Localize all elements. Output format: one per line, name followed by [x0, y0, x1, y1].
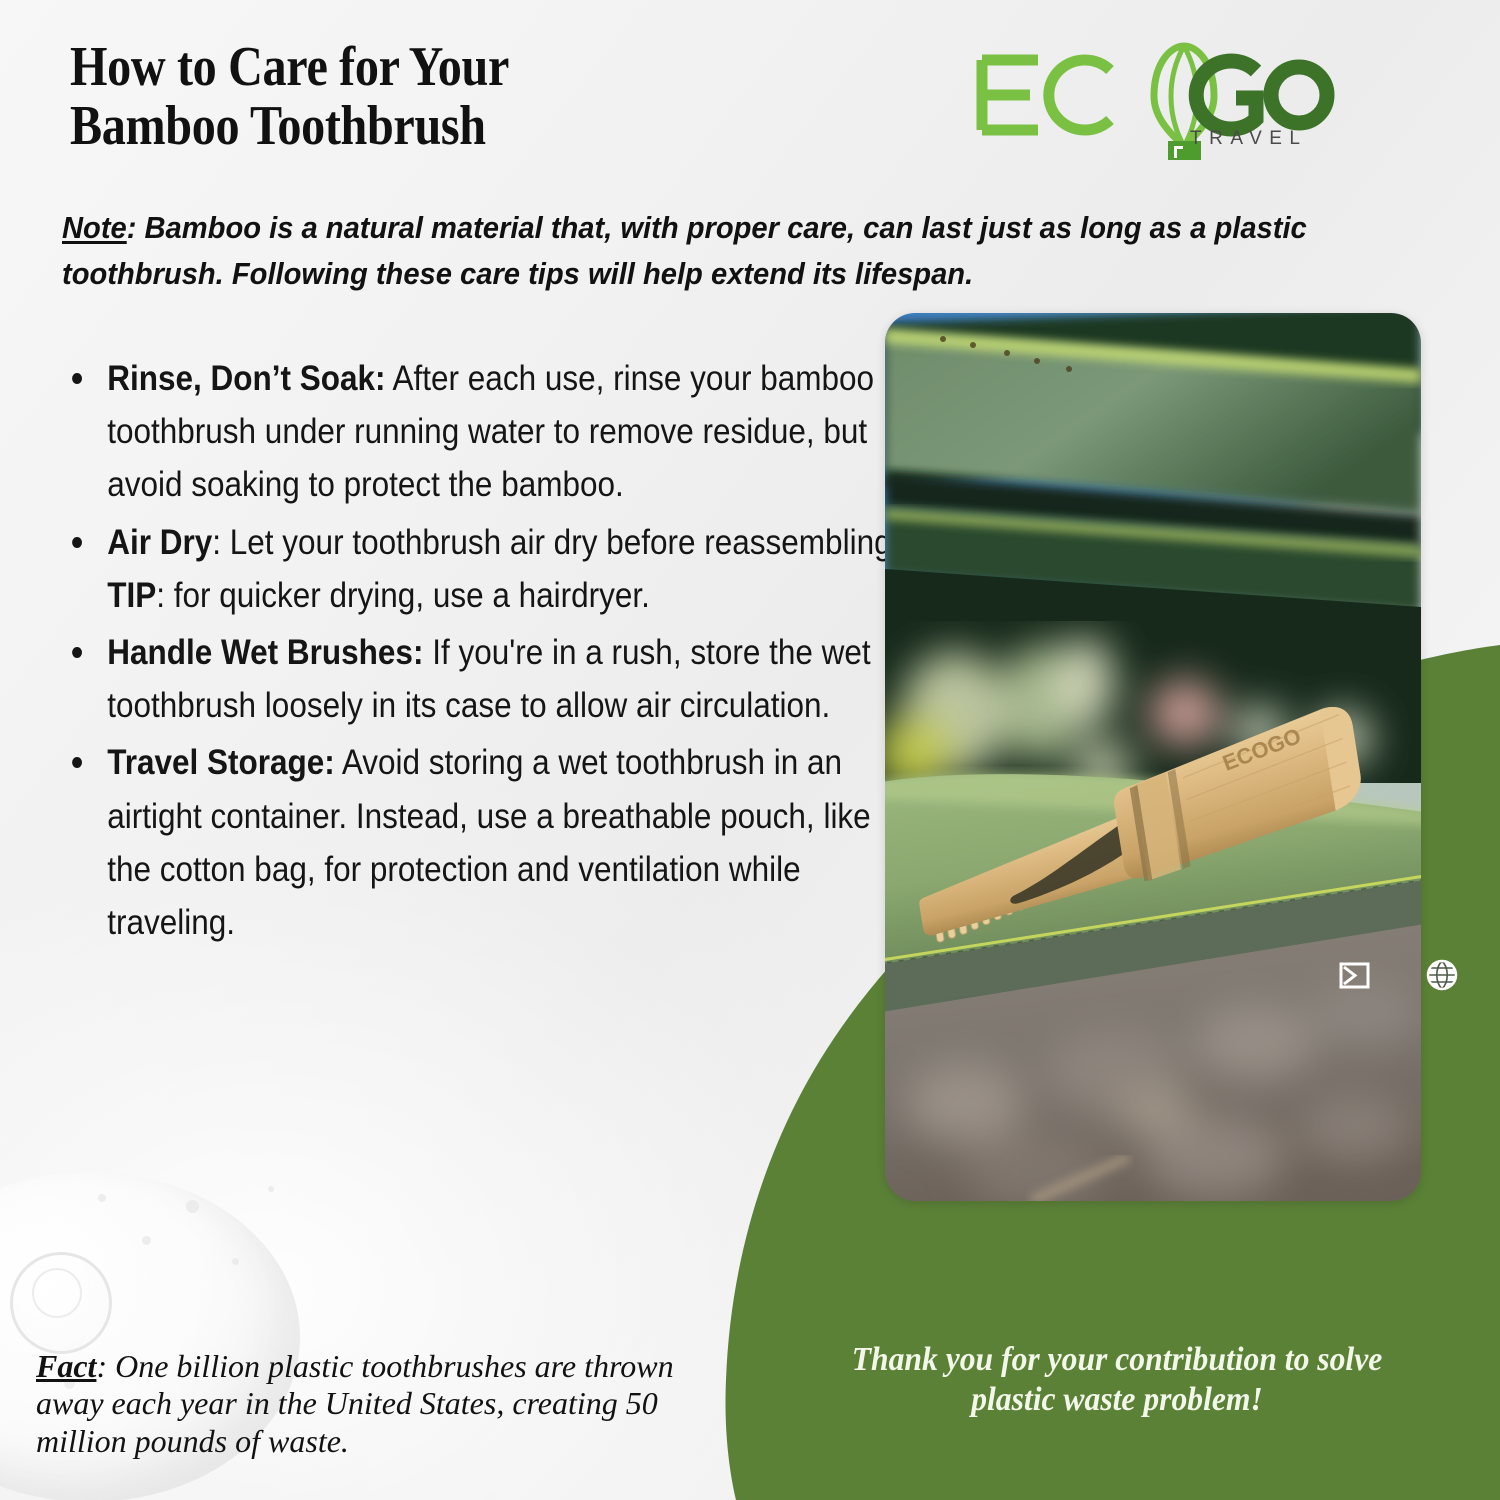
bullet-dot [72, 373, 82, 384]
care-tips-list: Rinse, Don’t Soak: After each use, rinse… [64, 352, 874, 953]
photo-overlay-icons [1338, 958, 1459, 997]
list-item: Handle Wet Brushes: If you're in a rush,… [64, 626, 917, 732]
tip-heading: Handle Wet Brushes: [107, 633, 423, 672]
infographic-canvas: How to Care for Your Bamboo Toothbrush [0, 0, 1500, 1500]
logo-letter-e [982, 60, 1038, 130]
fact-label: Fact [36, 1348, 96, 1384]
water-bubble-ring [10, 1252, 112, 1354]
note-label: Note [62, 211, 127, 245]
tip-body: : Let your toothbrush air dry before rea… [212, 523, 900, 562]
globe-icon[interactable] [1425, 958, 1459, 997]
thank-you-message: Thank you for your contribution to solve… [796, 1340, 1438, 1420]
water-droplet [268, 1186, 274, 1192]
list-item: Rinse, Don’t Soak: After each use, rinse… [64, 352, 917, 512]
water-droplet [186, 1200, 199, 1213]
logo-letter-g [1196, 61, 1256, 129]
note-text: : Bamboo is a natural material that, wit… [62, 211, 1307, 291]
water-bubble-ring-inner [32, 1268, 82, 1318]
tip-body-continued: : for quicker drying, use a hairdryer. [156, 576, 650, 615]
tip-heading: Air Dry [107, 523, 212, 562]
ecogo-travel-logo: TRAVEL [968, 38, 1340, 168]
list-item: Travel Storage: Avoid storing a wet toot… [64, 736, 917, 949]
logo-tagline: TRAVEL [1190, 128, 1308, 149]
fact-text: Fact: One billion plastic toothbrushes a… [36, 1348, 716, 1460]
note-paragraph: Note: Bamboo is a natural material that,… [62, 206, 1368, 298]
logo-letter-c [1049, 60, 1110, 130]
water-droplet [142, 1236, 151, 1245]
water-droplet [98, 1194, 106, 1202]
bullet-dot [72, 757, 82, 768]
page-title: How to Care for Your Bamboo Toothbrush [70, 38, 672, 157]
bullet-dot [72, 647, 82, 658]
tip-heading: Rinse, Don’t Soak: [107, 359, 385, 398]
bullet-dot [72, 537, 82, 548]
product-photo: ECOGO [885, 313, 1421, 1201]
tip-inline-emphasis: TIP [107, 576, 156, 615]
logo-letter-o [1271, 67, 1327, 123]
tip-heading: Travel Storage: [107, 743, 335, 782]
envelope-icon[interactable] [1338, 959, 1371, 997]
water-droplet [232, 1258, 239, 1265]
list-item: Air Dry: Let your toothbrush air dry bef… [64, 516, 917, 622]
fact-body: : One billion plastic toothbrushes are t… [36, 1348, 674, 1459]
